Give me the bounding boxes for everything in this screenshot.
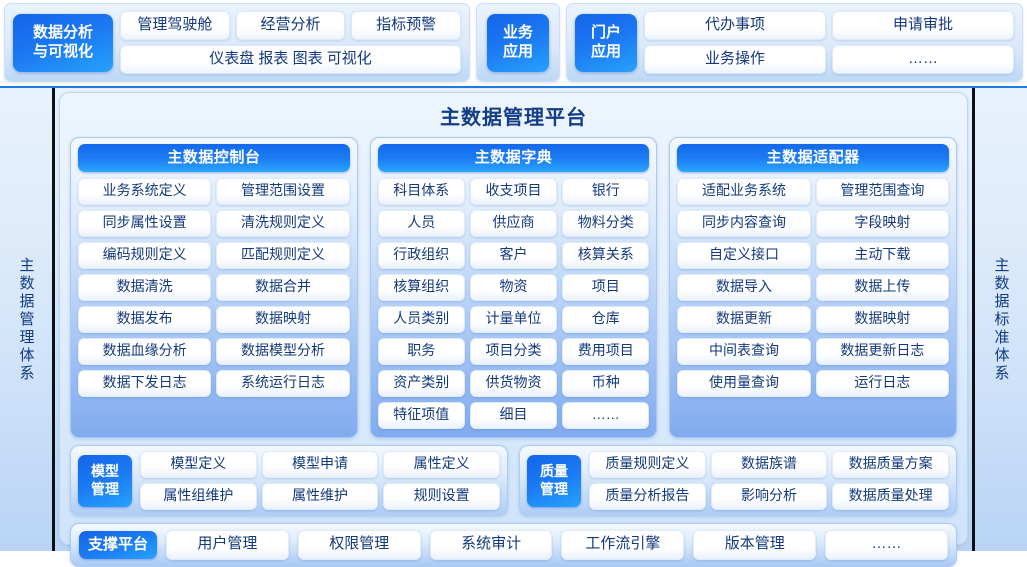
list-item[interactable]: …… (825, 530, 948, 560)
list-item[interactable]: …… (562, 402, 649, 429)
right-rail-label: 主数据标准体系 (991, 257, 1012, 383)
list-item[interactable]: 数据映射 (216, 306, 349, 333)
list-item[interactable]: 数据清洗 (78, 274, 211, 301)
list-item[interactable]: 银行 (562, 178, 649, 205)
chip-management-cockpit[interactable]: 管理驾驶舱 (120, 11, 230, 40)
platform-mid-bar: 模型 管理 模型定义 模型申请 属性定义 属性组维护 属性维护 规则设置 质量 … (70, 445, 957, 516)
data-analysis-tab[interactable]: 数据分析 与可视化 (13, 14, 113, 72)
data-analysis-chip-row-1: 管理驾驶舱 经营分析 指标预警 (120, 11, 461, 40)
business-application-panel: 业务 应用 (476, 3, 560, 82)
list-item[interactable]: 数据发布 (78, 306, 211, 333)
list-item[interactable]: 人员 (378, 210, 465, 237)
column-grid-master-data-console: 业务系统定义 管理范围设置 同步属性设置 清洗规则定义 编码规则定义 匹配规则定… (78, 178, 350, 397)
data-analysis-chip-row-2: 仪表盘 报表 图表 可视化 (120, 45, 461, 74)
list-item[interactable]: 清洗规则定义 (216, 210, 349, 237)
list-item[interactable]: 管理范围查询 (816, 178, 949, 205)
list-item[interactable]: 同步属性设置 (78, 210, 211, 237)
column-master-data-adapter: 主数据适配器 适配业务系统 管理范围查询 同步内容查询 字段映射 自定义接口 主… (669, 137, 957, 438)
group-grid-quality-management: 质量规则定义 数据族谱 数据质量方案 质量分析报告 影响分析 数据质量处理 (589, 451, 949, 510)
portal-application-tab[interactable]: 门户 应用 (575, 14, 637, 72)
list-item[interactable]: 运行日志 (816, 370, 949, 397)
group-label-quality-management-line1: 质量 (540, 463, 568, 480)
list-item[interactable]: 数据上传 (816, 274, 949, 301)
column-title-master-data-dictionary: 主数据字典 (378, 144, 650, 172)
business-application-tab-line1: 业务 (503, 24, 533, 42)
data-analysis-tab-line2: 与可视化 (33, 43, 93, 61)
list-item[interactable]: 编码规则定义 (78, 242, 211, 269)
chip-dashboard-report-chart-visual[interactable]: 仪表盘 报表 图表 可视化 (120, 45, 461, 74)
portal-application-panel: 门户 应用 代办事项 申请审批 业务操作 …… (566, 3, 1023, 82)
chip-apply-approval[interactable]: 申请审批 (832, 11, 1014, 40)
data-analysis-panel: 数据分析 与可视化 管理驾驶舱 经营分析 指标预警 仪表盘 报表 图表 可视化 (4, 3, 470, 82)
list-item[interactable]: 特征项值 (378, 402, 465, 429)
left-rail-master-data-management-system: 主数据管理体系 (0, 88, 55, 551)
chip-portal-more[interactable]: …… (832, 45, 1014, 74)
group-label-model-management[interactable]: 模型 管理 (78, 455, 132, 507)
list-item[interactable]: 规则设置 (383, 483, 500, 510)
column-title-master-data-console: 主数据控制台 (78, 144, 350, 172)
list-item[interactable]: 物资 (470, 274, 557, 301)
list-item[interactable]: 费用项目 (562, 338, 649, 365)
portal-chip-grid: 代办事项 申请审批 业务操作 …… (644, 11, 1014, 74)
support-platform-list: 用户管理 权限管理 系统审计 工作流引擎 版本管理 …… (166, 530, 948, 560)
list-item[interactable]: 影响分析 (711, 483, 828, 510)
list-item[interactable]: 主动下载 (816, 242, 949, 269)
list-item[interactable]: 数据质量处理 (832, 483, 949, 510)
list-item[interactable]: 匹配规则定义 (216, 242, 349, 269)
right-rail-master-data-standard-system: 主数据标准体系 (972, 88, 1027, 551)
list-item[interactable]: 数据族谱 (711, 451, 828, 478)
group-label-model-management-line2: 管理 (91, 481, 119, 498)
support-platform-bar: 支撑平台 用户管理 权限管理 系统审计 工作流引擎 版本管理 …… (70, 523, 957, 567)
list-item[interactable]: 供应商 (470, 210, 557, 237)
left-rail-label: 主数据管理体系 (16, 257, 37, 383)
list-item[interactable]: 模型定义 (140, 451, 257, 478)
list-item[interactable]: 计量单位 (470, 306, 557, 333)
list-item[interactable]: 数据映射 (816, 306, 949, 333)
list-item[interactable]: 数据导入 (677, 274, 810, 301)
list-item[interactable]: 客户 (470, 242, 557, 269)
list-item[interactable]: 属性维护 (262, 483, 379, 510)
list-item[interactable]: 属性定义 (383, 451, 500, 478)
list-item[interactable]: 质量规则定义 (589, 451, 706, 478)
platform-stage: 主数据管理体系 主数据管理平台 主数据控制台 业务系统定义 管理范围设置 同步属… (0, 86, 1027, 551)
group-label-quality-management-line2: 管理 (540, 481, 568, 498)
list-item[interactable]: 数据模型分析 (216, 338, 349, 365)
list-item[interactable]: 细目 (470, 402, 557, 429)
list-item[interactable]: 行政组织 (378, 242, 465, 269)
list-item[interactable]: 物料分类 (562, 210, 649, 237)
list-item[interactable]: 工作流引擎 (561, 530, 684, 560)
group-model-management: 模型 管理 模型定义 模型申请 属性定义 属性组维护 属性维护 规则设置 (70, 445, 508, 516)
portal-chip-row-2: 业务操作 …… (644, 45, 1014, 74)
list-item[interactable]: 项目分类 (470, 338, 557, 365)
group-label-quality-management[interactable]: 质量 管理 (527, 455, 581, 507)
list-item[interactable]: 权限管理 (298, 530, 421, 560)
list-item[interactable]: 仓库 (562, 306, 649, 333)
list-item[interactable]: 项目 (562, 274, 649, 301)
chip-business-operation[interactable]: 业务操作 (644, 45, 826, 74)
data-analysis-chip-grid: 管理驾驶舱 经营分析 指标预警 仪表盘 报表 图表 可视化 (120, 11, 461, 74)
list-item[interactable]: 适配业务系统 (677, 178, 810, 205)
column-grid-master-data-adapter: 适配业务系统 管理范围查询 同步内容查询 字段映射 自定义接口 主动下载 数据导… (677, 178, 949, 397)
group-grid-model-management: 模型定义 模型申请 属性定义 属性组维护 属性维护 规则设置 (140, 451, 500, 510)
list-item[interactable]: 属性组维护 (140, 483, 257, 510)
list-item[interactable]: 数据更新 (677, 306, 810, 333)
chip-business-analysis[interactable]: 经营分析 (236, 11, 346, 40)
list-item[interactable]: 系统审计 (430, 530, 553, 560)
list-item[interactable]: 数据下发日志 (78, 370, 211, 397)
list-item[interactable]: 管理范围设置 (216, 178, 349, 205)
list-item[interactable]: 供货物资 (470, 370, 557, 397)
list-item[interactable]: 版本管理 (693, 530, 816, 560)
group-label-model-management-line1: 模型 (91, 463, 119, 480)
list-item[interactable]: 系统运行日志 (216, 370, 349, 397)
list-item[interactable]: 业务系统定义 (78, 178, 211, 205)
list-item[interactable]: 核算关系 (562, 242, 649, 269)
page-title: 主数据管理平台 (70, 97, 957, 137)
chip-todo-items[interactable]: 代办事项 (644, 11, 826, 40)
list-item[interactable]: 数据更新日志 (816, 338, 949, 365)
platform-columns: 主数据控制台 业务系统定义 管理范围设置 同步属性设置 清洗规则定义 编码规则定… (70, 137, 957, 438)
list-item[interactable]: 数据合并 (216, 274, 349, 301)
list-item[interactable]: 质量分析报告 (589, 483, 706, 510)
portal-application-tab-line2: 应用 (591, 43, 621, 61)
portal-application-tab-line1: 门户 (591, 24, 621, 42)
top-application-bar: 数据分析 与可视化 管理驾驶舱 经营分析 指标预警 仪表盘 报表 图表 可视化 … (0, 0, 1027, 86)
business-application-tab[interactable]: 业务 应用 (487, 14, 549, 72)
business-application-tab-line2: 应用 (503, 43, 533, 61)
column-master-data-dictionary: 主数据字典 科目体系 收支项目 银行 人员 供应商 物料分类 行政组织 客户 核… (370, 137, 658, 438)
list-item[interactable]: 人员类别 (378, 306, 465, 333)
column-master-data-console: 主数据控制台 业务系统定义 管理范围设置 同步属性设置 清洗规则定义 编码规则定… (70, 137, 358, 438)
list-item[interactable]: 币种 (562, 370, 649, 397)
column-grid-master-data-dictionary: 科目体系 收支项目 银行 人员 供应商 物料分类 行政组织 客户 核算关系 核算… (378, 178, 650, 429)
list-item[interactable]: 模型申请 (262, 451, 379, 478)
support-platform-label[interactable]: 支撑平台 (79, 531, 157, 559)
list-item[interactable]: 同步内容查询 (677, 210, 810, 237)
list-item[interactable]: 核算组织 (378, 274, 465, 301)
column-title-master-data-adapter: 主数据适配器 (677, 144, 949, 172)
list-item[interactable]: 资产类别 (378, 370, 465, 397)
list-item[interactable]: 使用量查询 (677, 370, 810, 397)
list-item[interactable]: 收支项目 (470, 178, 557, 205)
list-item[interactable]: 自定义接口 (677, 242, 810, 269)
list-item[interactable]: 职务 (378, 338, 465, 365)
data-analysis-tab-line1: 数据分析 (33, 24, 93, 42)
list-item[interactable]: 中间表查询 (677, 338, 810, 365)
portal-chip-row-1: 代办事项 申请审批 (644, 11, 1014, 40)
list-item[interactable]: 数据血缘分析 (78, 338, 211, 365)
list-item[interactable]: 用户管理 (166, 530, 289, 560)
master-data-platform-panel: 主数据管理平台 主数据控制台 业务系统定义 管理范围设置 同步属性设置 清洗规则… (59, 92, 968, 545)
list-item[interactable]: 字段映射 (816, 210, 949, 237)
list-item[interactable]: 数据质量方案 (832, 451, 949, 478)
group-quality-management: 质量 管理 质量规则定义 数据族谱 数据质量方案 质量分析报告 影响分析 数据质… (519, 445, 957, 516)
list-item[interactable]: 科目体系 (378, 178, 465, 205)
chip-indicator-warning[interactable]: 指标预警 (351, 11, 461, 40)
